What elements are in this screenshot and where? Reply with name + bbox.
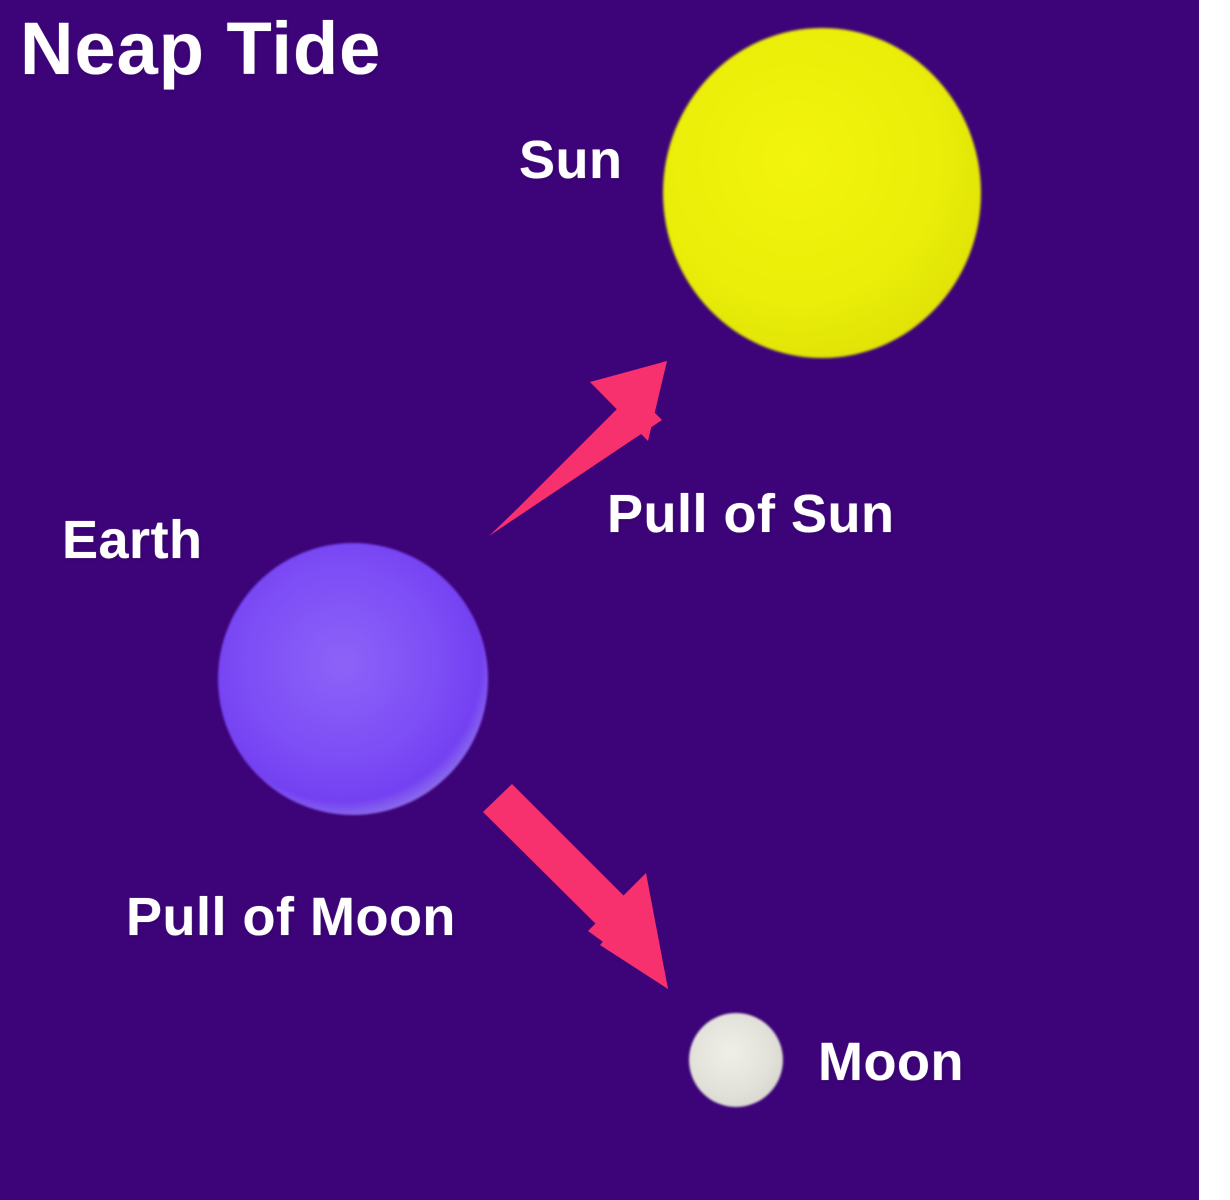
sun-body	[663, 28, 981, 358]
neap-tide-diagram: Neap Tide Sun Earth Moon Pull of Sun Pul…	[0, 0, 1199, 1200]
earth-body	[218, 543, 488, 815]
right-white-margin	[1199, 0, 1230, 1200]
moon-label: Moon	[818, 1035, 964, 1089]
earth-label: Earth	[62, 513, 203, 567]
pull-of-sun-label: Pull of Sun	[607, 487, 894, 541]
moon-body	[689, 1013, 783, 1107]
page-title: Neap Tide	[20, 12, 381, 86]
sun-label: Sun	[519, 133, 623, 187]
pull-of-moon-label: Pull of Moon	[126, 890, 456, 944]
pull-of-moon-arrow-icon	[483, 784, 668, 989]
